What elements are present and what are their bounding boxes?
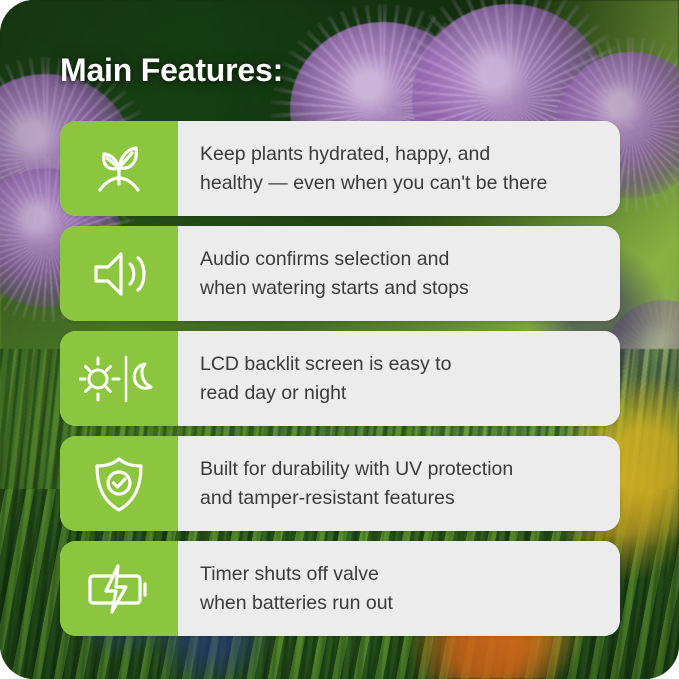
feature-line: healthy — even when you can't be there xyxy=(200,169,598,198)
feature-list-card: Main Features: xyxy=(0,0,679,679)
feature-icon-cell xyxy=(60,541,178,636)
feature-line: and tamper-resistant features xyxy=(200,484,598,513)
seedling-icon xyxy=(88,138,150,200)
feature-row: LCD backlit screen is easy to read day o… xyxy=(60,331,620,426)
feature-line: Timer shuts off valve xyxy=(200,560,598,589)
feature-row: Keep plants hydrated, happy, and healthy… xyxy=(60,121,620,216)
battery-bolt-icon xyxy=(84,558,154,620)
feature-text-cell: Keep plants hydrated, happy, and healthy… xyxy=(178,121,620,216)
feature-icon-cell xyxy=(60,436,178,531)
feature-text-cell: LCD backlit screen is easy to read day o… xyxy=(178,331,620,426)
feature-row: Built for durability with UV protection … xyxy=(60,436,620,531)
features-list: Keep plants hydrated, happy, and healthy… xyxy=(60,121,620,636)
feature-text-cell: Audio confirms selection and when wateri… xyxy=(178,226,620,321)
feature-line: Audio confirms selection and xyxy=(200,245,598,274)
feature-text-cell: Built for durability with UV protection … xyxy=(178,436,620,531)
feature-line: Built for durability with UV protection xyxy=(200,455,598,484)
sun-moon-icon xyxy=(79,348,159,410)
feature-text-cell: Timer shuts off valve when batteries run… xyxy=(178,541,620,636)
page-title: Main Features: xyxy=(60,52,283,89)
feature-line: Keep plants hydrated, happy, and xyxy=(200,140,598,169)
feature-icon-cell xyxy=(60,331,178,426)
speaker-audio-icon xyxy=(88,243,150,305)
feature-row: Audio confirms selection and when wateri… xyxy=(60,226,620,321)
feature-icon-cell xyxy=(60,121,178,216)
feature-icon-cell xyxy=(60,226,178,321)
feature-line: when batteries run out xyxy=(200,589,598,618)
feature-line: LCD backlit screen is easy to xyxy=(200,350,598,379)
feature-line: when watering starts and stops xyxy=(200,274,598,303)
feature-line: read day or night xyxy=(200,379,598,408)
shield-check-icon xyxy=(88,453,150,515)
feature-row: Timer shuts off valve when batteries run… xyxy=(60,541,620,636)
card-content: Main Features: xyxy=(0,0,679,679)
